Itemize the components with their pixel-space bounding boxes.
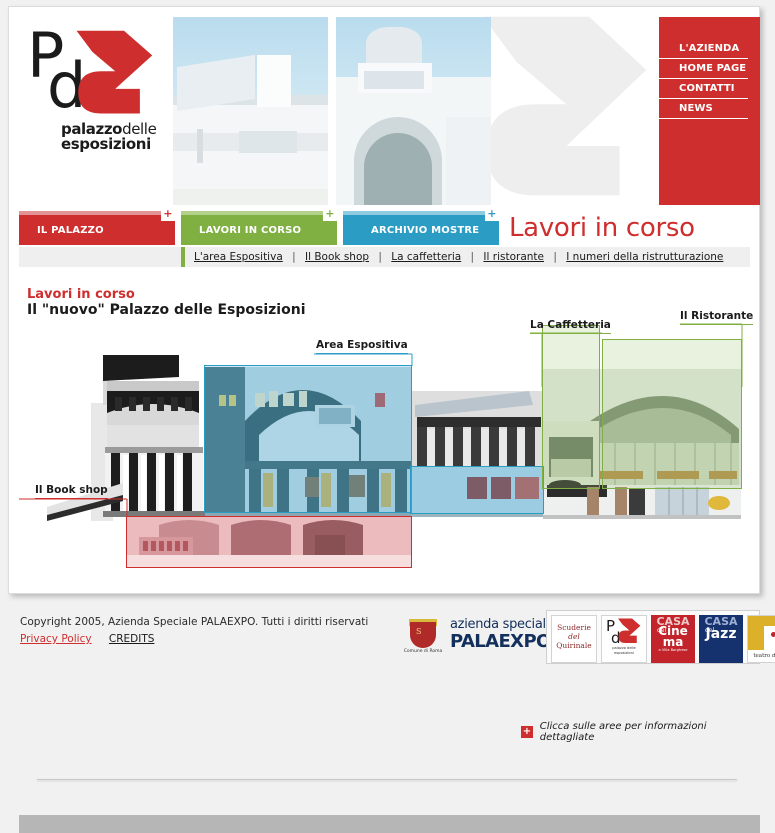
main-card: P d palazzodelle esposizioni [8, 6, 760, 594]
casa-jazz-l3: Jazz [699, 627, 743, 641]
site-header: P d palazzodelle esposizioni [9, 7, 759, 207]
palaexpo-logo: azienda speciale PALAEXPO [450, 617, 554, 652]
hotzone-book-shop[interactable] [126, 516, 412, 568]
plus-icon: + [521, 726, 533, 738]
content-heading-black: Il "nuovo" Palazzo delle Esposizioni [27, 302, 306, 318]
hotzone-area-espositiva[interactable] [204, 365, 412, 513]
subnav-accent-bar [181, 247, 185, 267]
comune-di-roma-crest-icon: S Comune di Roma [402, 616, 444, 656]
tab-il-palazzo-label: IL PALAZZO [19, 225, 104, 236]
header-photo-facade [173, 17, 328, 205]
subnav-separator: | [286, 251, 302, 263]
teatro-l1: teatro [753, 653, 770, 659]
diagram-label-la-caffetteria[interactable]: La Caffetteria [530, 319, 611, 334]
subnav-item-caffetteria[interactable]: La caffetteria [391, 251, 461, 263]
content-divider [37, 779, 737, 780]
subnav-item-area-espositiva[interactable]: L'area Espositiva [194, 251, 283, 263]
page-root: P d palazzodelle esposizioni [0, 0, 775, 670]
hotzone-ristorante[interactable] [602, 339, 742, 489]
site-logo[interactable]: P d palazzodelle esposizioni [19, 17, 174, 157]
logo-teatro-del-lido[interactable]: teatro del lido [747, 615, 775, 663]
tab-lavori-in-corso[interactable]: LAVORI IN CORSO + [181, 215, 337, 245]
casa-cinema-l4: ma [651, 637, 695, 648]
header-photo-arch [336, 17, 491, 205]
logo-word-esposizioni: esposizioni [61, 137, 191, 152]
subnav-separator: | [465, 251, 481, 263]
palaexpo-line2: PALAEXPO [450, 631, 554, 652]
diagram-label-il-book-shop[interactable]: Il Book shop [35, 484, 108, 499]
footer-links: Privacy Policy CREDITS [20, 633, 154, 645]
subnav-separator: | [372, 251, 388, 263]
scuderie-l1: Scuderie [552, 623, 596, 632]
palaexpo-line1: azienda speciale [450, 617, 554, 632]
plus-icon[interactable]: + [323, 207, 337, 221]
subnav-links: L'area Espositiva | Il Book shop | La ca… [194, 251, 723, 263]
scuderie-l3: Quirinale [552, 641, 596, 650]
copyright-text: Copyright 2005, Azienda Speciale PALAEXP… [20, 616, 368, 628]
content-footer-bar [19, 815, 760, 833]
comune-caption: Comune di Roma [402, 649, 444, 654]
privacy-policy-link[interactable]: Privacy Policy [20, 633, 92, 645]
logo-swoosh-icon [71, 29, 163, 117]
logo-casa-del-cinema[interactable]: CASA del Cine ma a Villa Borghese [651, 615, 695, 663]
logo-casa-del-jazz[interactable]: CASA del Jazz [699, 615, 743, 663]
hotzone-area-espositiva-lower[interactable] [410, 466, 544, 514]
diagram-label-il-ristorante[interactable]: Il Ristorante [680, 310, 753, 325]
nav-item-azienda[interactable]: L'AZIENDA [659, 39, 748, 59]
diagram-hint: + Clicca sulle aree per informazioni det… [521, 721, 760, 743]
casa-cinema-l5: a Villa Borghese [651, 648, 695, 652]
top-nav: L'AZIENDA HOME PAGE CONTATTI NEWS [659, 17, 760, 205]
tab-archivio-mostre-label: ARCHIVIO MOSTRE [343, 225, 479, 236]
content-heading-red: Lavori in corso [27, 287, 135, 302]
diagram-label-area-espositiva[interactable]: Area Espositiva [316, 339, 408, 354]
tab-archivio-mostre[interactable]: ARCHIVIO MOSTRE + [343, 215, 499, 245]
nav-item-contatti[interactable]: CONTATTI [659, 79, 748, 99]
subnav-separator: | [547, 251, 563, 263]
logo-scuderie-del-quirinale[interactable]: Scuderie del Quirinale [551, 615, 597, 663]
watermark-swoosh-icon [479, 13, 669, 203]
tab-il-palazzo[interactable]: IL PALAZZO + [19, 215, 175, 245]
building-section-diagram: Area Espositiva Il Book shop [19, 325, 750, 555]
sub-nav: L'area Espositiva | Il Book shop | La ca… [19, 247, 750, 267]
partner-logos-frame: Scuderie del Quirinale Pd palazzo delle [546, 610, 760, 664]
subnav-item-numeri-ristrutturazione[interactable]: I numeri della ristrutturazione [566, 251, 723, 263]
logo-wordmark: palazzodelle esposizioni [61, 122, 191, 152]
page-title: Lavori in corso [509, 213, 695, 243]
hotzone-caffetteria[interactable] [542, 325, 600, 489]
pd-caption2: esposizioni [602, 651, 646, 656]
credits-link[interactable]: CREDITS [109, 633, 155, 645]
tab-lavori-in-corso-label: LAVORI IN CORSO [181, 225, 301, 236]
nav-item-news[interactable]: NEWS [659, 99, 748, 119]
nav-item-home-page[interactable]: HOME PAGE [659, 59, 748, 79]
main-content: Lavori in corso Il "nuovo" Palazzo delle… [9, 269, 760, 593]
plus-icon[interactable]: + [161, 207, 175, 221]
subnav-item-book-shop[interactable]: Il Book shop [305, 251, 369, 263]
scuderie-l2: del [552, 632, 596, 641]
plus-icon[interactable]: + [485, 207, 499, 221]
diagram-hint-text: Clicca sulle aree per informazioni detta… [540, 721, 760, 743]
subnav-item-ristorante[interactable]: Il ristorante [483, 251, 544, 263]
site-footer: Copyright 2005, Azienda Speciale PALAEXP… [8, 606, 760, 666]
footer-logos: S Comune di Roma azienda speciale PALAEX… [396, 608, 760, 664]
logo-palazzo-esposizioni[interactable]: Pd palazzo delle esposizioni [601, 615, 647, 663]
